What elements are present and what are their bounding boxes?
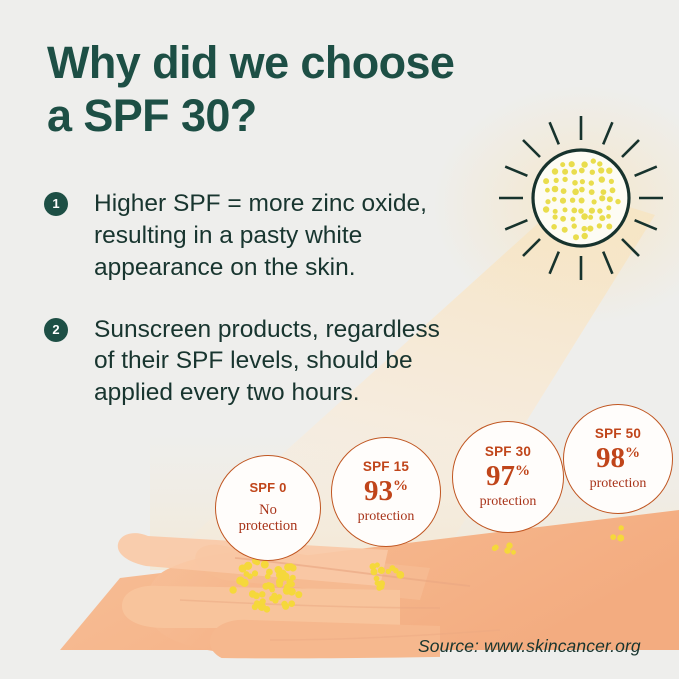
spf-number: 93 (364, 477, 393, 506)
spf-number: 98 (596, 444, 625, 473)
reasons-list: 1 Higher SPF = more zinc oxide, resultin… (44, 188, 544, 433)
spf-badge-15[interactable]: SPF 15 93 % protection (331, 437, 441, 547)
list-item: 2 Sunscreen products, regardless of thei… (44, 314, 544, 410)
spf-label: SPF 50 (595, 427, 641, 441)
spf-sublabel: No protection (239, 503, 298, 535)
spf-label: SPF 0 (249, 481, 286, 494)
infographic-canvas: Why did we choose a SPF 30? (0, 0, 679, 679)
percent-sign: % (625, 446, 640, 461)
spf-percent-value: 97 % (486, 462, 530, 491)
source-credit: Source: www.skincancer.org (418, 636, 641, 657)
spf-percent-value: 93 % (364, 477, 408, 506)
spf-percent-value: 98 % (596, 444, 640, 473)
list-item-text: Higher SPF = more zinc oxide, resulting … (94, 188, 544, 284)
spf-sublabel: protection (358, 509, 415, 524)
spf-label: SPF 30 (485, 445, 531, 459)
spf-number: 97 (486, 462, 515, 491)
list-number-badge: 2 (44, 318, 68, 342)
list-item: 1 Higher SPF = more zinc oxide, resultin… (44, 188, 544, 284)
spf-label: SPF 15 (363, 460, 409, 474)
spf-sublabel: protection (480, 494, 537, 509)
percent-sign: % (393, 479, 408, 494)
spf-badge-30[interactable]: SPF 30 97 % protection (452, 421, 564, 533)
list-number-badge: 1 (44, 192, 68, 216)
list-item-text: Sunscreen products, regardless of their … (94, 314, 544, 410)
spf-badge-0[interactable]: SPF 0 No protection (215, 455, 321, 561)
spf-badge-50[interactable]: SPF 50 98 % protection (563, 404, 673, 514)
percent-sign: % (515, 464, 530, 479)
spf-sublabel: protection (590, 476, 647, 491)
